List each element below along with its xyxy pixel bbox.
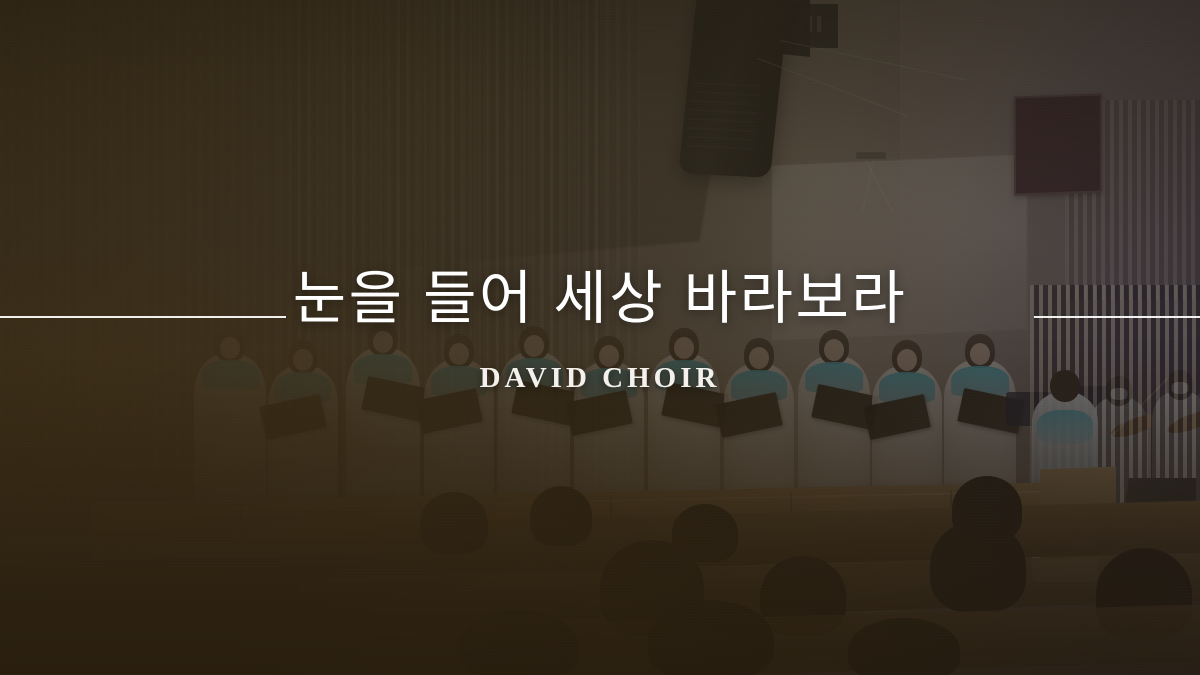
title-block: 눈을 들어 세상 바라보라 DAVID CHOIR: [0, 0, 1200, 675]
page-subtitle: DAVID CHOIR: [0, 362, 1200, 395]
title-card-slide: 눈을 들어 세상 바라보라 DAVID CHOIR: [0, 0, 1200, 675]
page-title: 눈을 들어 세상 바라보라: [0, 268, 1200, 331]
